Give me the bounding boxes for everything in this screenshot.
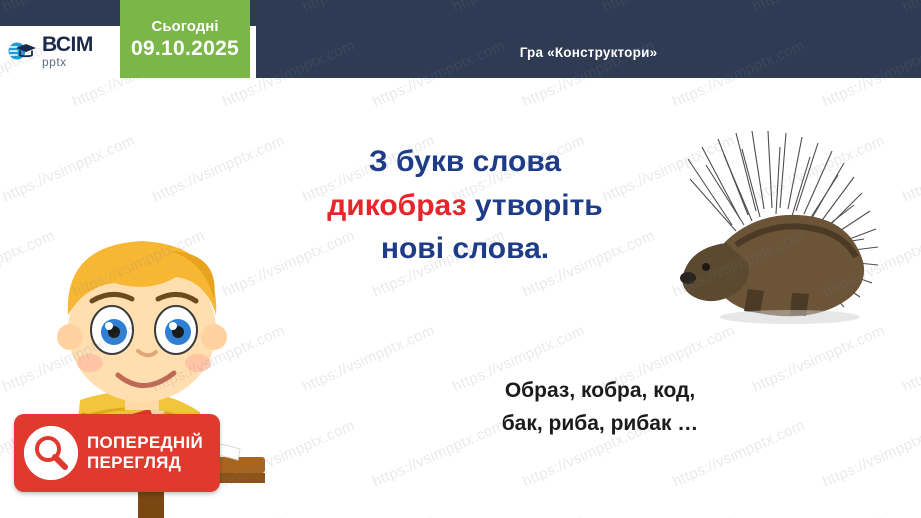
magnifier-icon: [24, 426, 78, 480]
main-text-line1: З букв слова: [280, 140, 650, 184]
highlight-word: дикобраз: [327, 189, 466, 222]
logo-main-label: ВСІМ: [42, 34, 93, 55]
logo-sub-label: pptx: [42, 56, 93, 68]
answer-line-1: Образ, кобра, код,: [420, 375, 780, 408]
porcupine-photo: [640, 115, 890, 330]
watermark-text: https://vsimpptx.com: [820, 417, 921, 491]
watermark-text: https://vsimpptx.com: [750, 512, 887, 518]
main-text-line2-rest: утворіть: [467, 189, 603, 222]
watermark-text: https://vsimpptx.com: [300, 322, 437, 396]
main-text-line3: нові слова.: [280, 227, 650, 271]
watermark-text: https://vsimpptx.com: [900, 132, 921, 206]
logo[interactable]: ВСІМ pptx: [8, 28, 128, 74]
preview-badge-line1: ПОПЕРЕДНІЙ: [87, 433, 203, 453]
date-badge-label: Сьогодні: [152, 18, 219, 35]
watermark-text: https://vsimpptx.com: [600, 512, 737, 518]
main-text: З букв слова дикобраз утворіть нові слов…: [280, 140, 650, 271]
watermark-text: https://vsimpptx.com: [900, 322, 921, 396]
main-text-line2: дикобраз утворіть: [280, 184, 650, 228]
date-badge: Сьогодні 09.10.2025: [120, 0, 250, 78]
header-band: Гра «Конструктори»: [256, 26, 921, 78]
preview-badge-line2: ПЕРЕГЛЯД: [87, 453, 203, 473]
preview-badge-text: ПОПЕРЕДНІЙ ПЕРЕГЛЯД: [87, 433, 203, 472]
answer-text: Образ, кобра, код, бак, риба, рибак …: [420, 375, 780, 440]
page-title: Гра «Конструктори»: [520, 45, 658, 60]
preview-badge[interactable]: ПОПЕРЕДНІЙ ПЕРЕГЛЯД: [14, 414, 220, 492]
date-badge-value: 09.10.2025: [131, 37, 239, 61]
logo-text: ВСІМ pptx: [42, 34, 93, 68]
watermark-text: https://vsimpptx.com: [450, 512, 587, 518]
slide: Гра «Конструктори» ВСІМ pptx Сьогодні 09…: [0, 0, 921, 518]
watermark-text: https://vsimpptx.com: [900, 512, 921, 518]
watermark-text: https://vsimpptx.com: [300, 512, 437, 518]
answer-line-2: бак, риба, рибак …: [420, 408, 780, 441]
graduation-cap-icon: [8, 36, 38, 66]
